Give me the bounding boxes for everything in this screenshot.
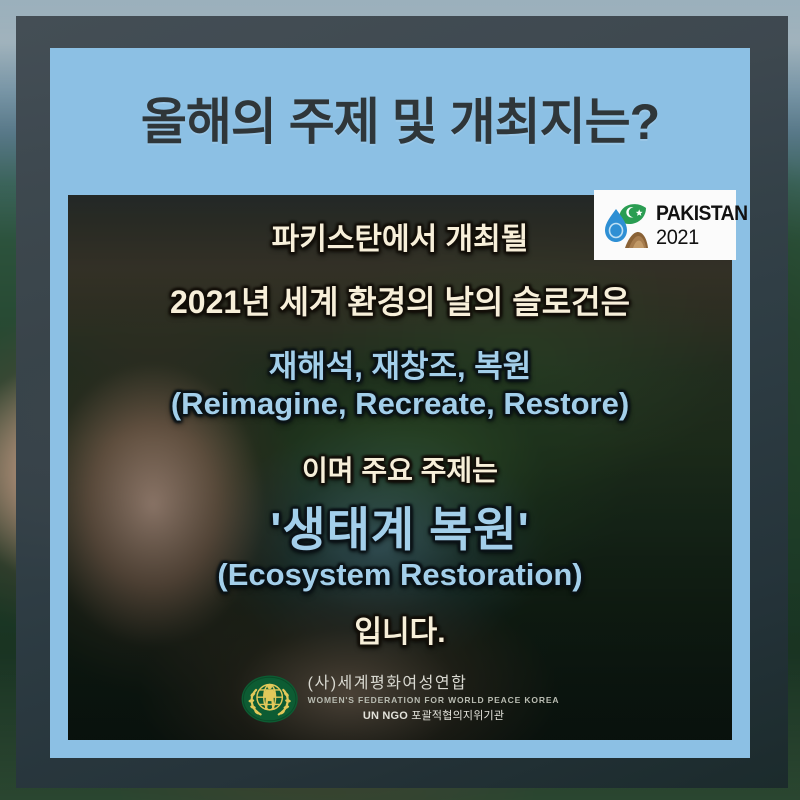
message-text-block: 파키스탄에서 개최될 2021년 세계 환경의 날의 슬로건은 재해석, 재창조… (68, 195, 732, 740)
message-line-5: 이며 주요 주제는 (302, 455, 498, 486)
pakistan-host-logo-icon (602, 199, 650, 251)
message-closing: 입니다. (354, 616, 445, 650)
slogan-korean: 재해석, 재창조, 복원 (269, 350, 532, 385)
un-status-line: UN NGO 포괄적협의지위기관 (363, 711, 504, 722)
pakistan-host-badge: PAKISTAN 2021 (594, 190, 736, 260)
organization-names: (사)세계평화여성연합 WOMEN'S FEDERATION FOR WORLD… (308, 676, 560, 722)
theme-korean: '생태계 복원' (270, 504, 530, 557)
message-line-1: 파키스탄에서 개최될 (272, 223, 529, 257)
page-title: 올해의 주제 및 개최지는? (141, 97, 659, 147)
wfwp-globe-emblem-icon (241, 670, 299, 728)
un-status-text: 포괄적협의지위기관 (411, 710, 504, 722)
poster-header: 올해의 주제 및 개최지는? (50, 48, 750, 195)
un-status-prefix: UN NGO (363, 710, 411, 722)
organization-name-korean: (사)세계평화여성연합 (308, 676, 468, 692)
pakistan-badge-text: PAKISTAN 2021 (656, 203, 755, 248)
organization-name-english: WOMEN'S FEDERATION FOR WORLD PEACE KOREA (308, 696, 560, 705)
pakistan-year-label: 2021 (656, 227, 750, 248)
message-line-2: 2021년 세계 환경의 날의 슬로건은 (170, 285, 630, 321)
poster-canvas: 올해의 주제 및 개최지는? 파키스탄에서 개최될 2021년 세계 환경의 날… (0, 0, 800, 800)
theme-english: (Ecosystem Restoration) (217, 558, 582, 593)
pakistan-country-label: PAKISTAN (656, 203, 747, 224)
organization-logo: (사)세계평화여성연합 WOMEN'S FEDERATION FOR WORLD… (241, 670, 560, 728)
slogan-english: (Reimagine, Recreate, Restore) (171, 387, 629, 422)
content-panel: 파키스탄에서 개최될 2021년 세계 환경의 날의 슬로건은 재해석, 재창조… (68, 195, 732, 740)
